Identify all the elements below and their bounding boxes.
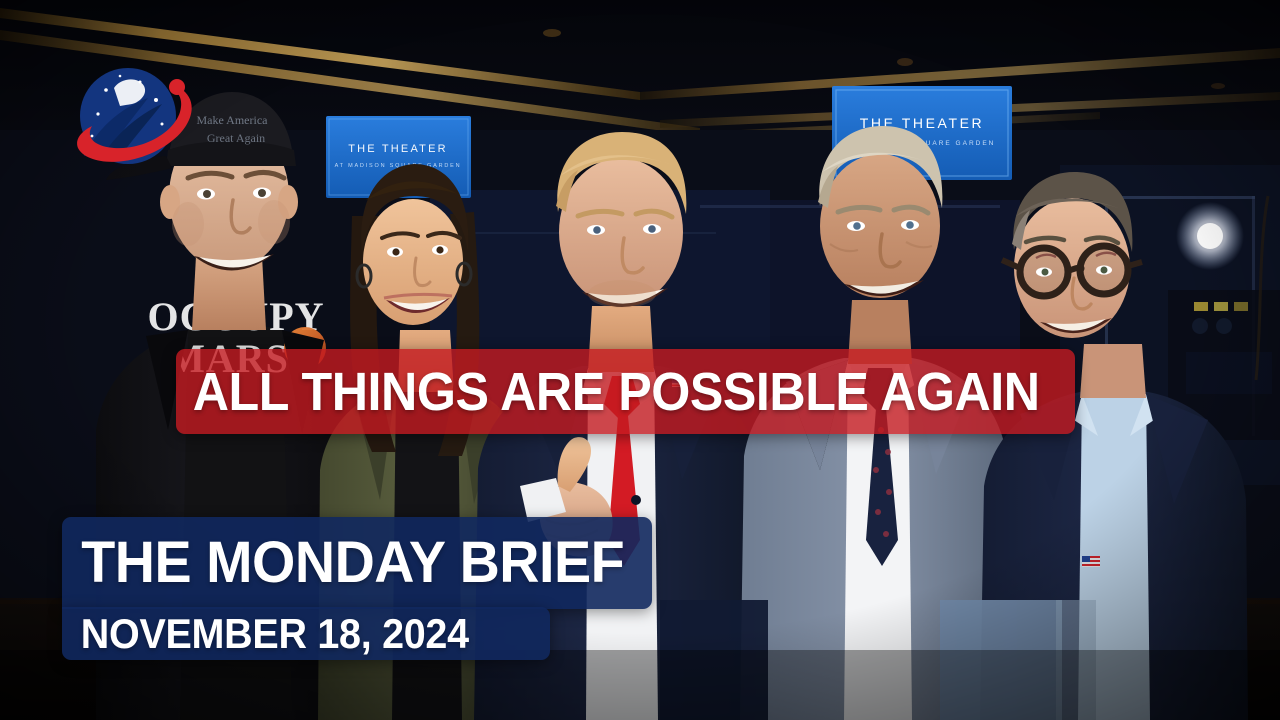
brief-date-banner: NOVEMBER 18, 2024 xyxy=(62,607,550,660)
headline-banner: ALL THINGS ARE POSSIBLE AGAIN xyxy=(176,349,1075,434)
nasa-meatball-rocket-logo xyxy=(62,52,212,180)
brief-title-banner: THE MONDAY BRIEF xyxy=(62,517,652,609)
brief-graphic-canvas: THE THEATER AT MADISON SQUARE GARDEN THE… xyxy=(0,0,1280,720)
headline-text: ALL THINGS ARE POSSIBLE AGAIN xyxy=(176,365,1040,419)
brief-title-text: THE MONDAY BRIEF xyxy=(62,534,624,592)
brief-date-text: NOVEMBER 18, 2024 xyxy=(62,613,469,655)
